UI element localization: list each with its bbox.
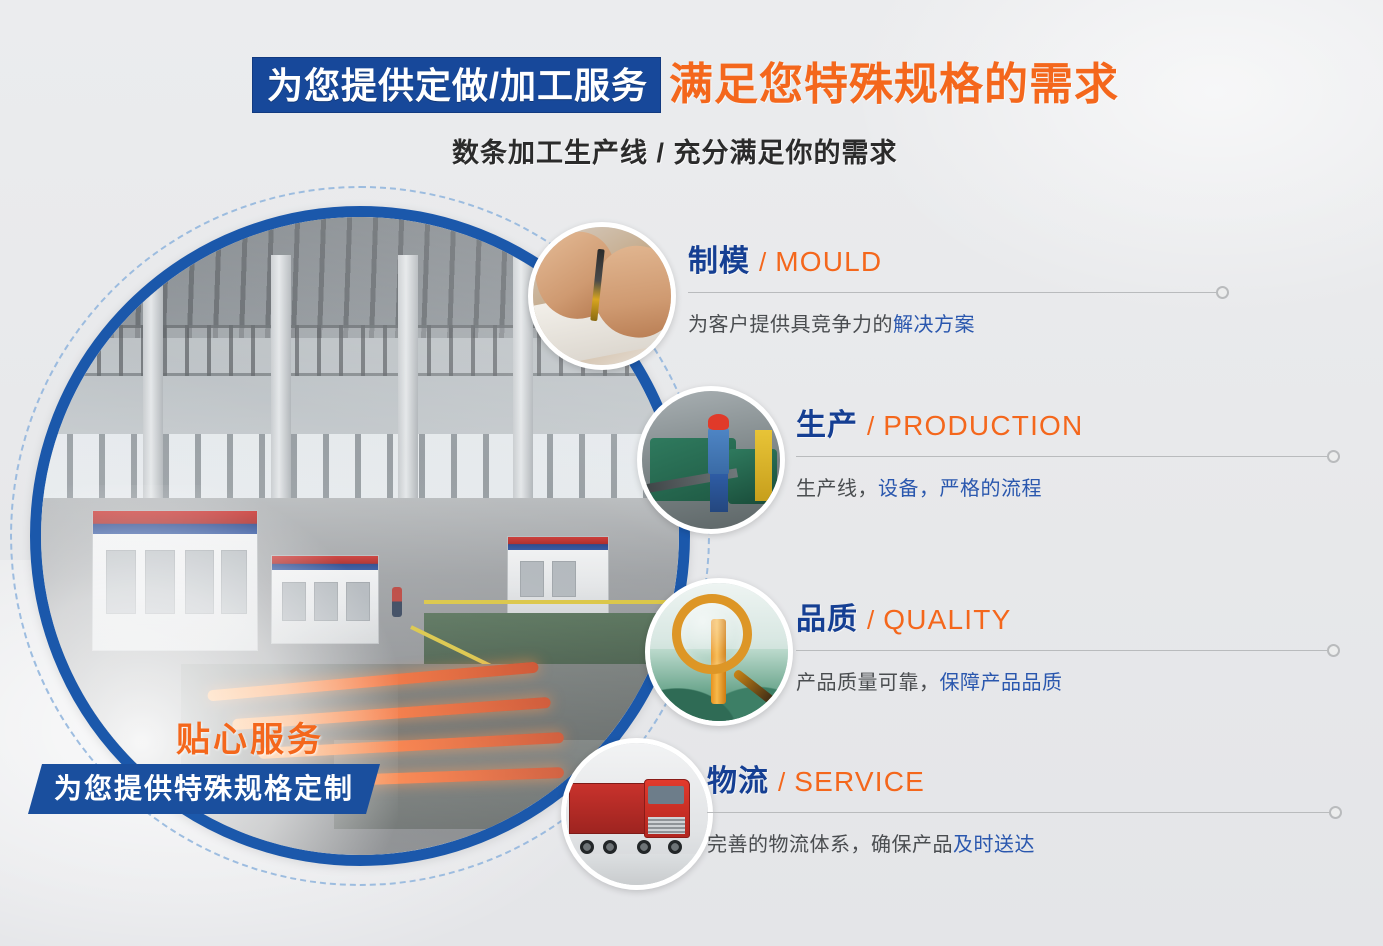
feature-list: 制模/MOULD 为客户提供具竞争力的解决方案: [0, 0, 1383, 946]
feature-title-separator: /: [759, 247, 766, 277]
feature-title-cn: 品质: [796, 603, 858, 636]
promo-banner: 为您提供定做/加工服务 满足您特殊规格的需求 数条加工生产线 / 充分满足你的需…: [0, 0, 1383, 946]
feature-description-service: 完善的物流体系，确保产品及时送达: [707, 828, 1342, 857]
feature-title-quality: 品质/QUALITY: [796, 594, 1341, 638]
feature-divider-rule: [796, 456, 1333, 457]
icon-truck-wheel: [668, 840, 682, 854]
feature-divider-rule: [688, 292, 1222, 293]
feature-title-mould: 制模/MOULD: [688, 236, 1228, 280]
feature-description-production: 生产线，设备，严格的流程: [796, 472, 1341, 501]
feature-desc-plain: 生产线，: [796, 478, 878, 500]
feature-title-en: SERVICE: [794, 766, 925, 797]
feature-title-en: MOULD: [775, 246, 882, 277]
feature-desc-plain: 为客户提供具竞争力的: [688, 314, 893, 336]
feature-text-production: 生产/PRODUCTION 生产线，设备，严格的流程: [796, 400, 1341, 501]
feature-description-mould: 为客户提供具竞争力的解决方案: [688, 308, 1228, 337]
feature-desc-plain: 产品质量可靠，: [796, 672, 940, 694]
feature-divider-rule: [796, 650, 1333, 651]
icon-truck-wheel: [603, 840, 617, 854]
icon-truck-trailer: [569, 783, 646, 834]
feature-title-cn: 生产: [796, 409, 858, 442]
feature-text-mould: 制模/MOULD 为客户提供具竞争力的解决方案: [688, 236, 1228, 337]
feature-title-production: 生产/PRODUCTION: [796, 400, 1341, 444]
icon-truck-windshield: [648, 786, 684, 804]
feature-description-quality: 产品质量可靠，保障产品品质: [796, 666, 1341, 695]
feature-title-separator: /: [867, 411, 874, 441]
feature-text-service: 物流/SERVICE 完善的物流体系，确保产品及时送达: [707, 756, 1342, 857]
feature-title-service: 物流/SERVICE: [707, 756, 1342, 800]
feature-title-en: PRODUCTION: [883, 410, 1083, 441]
production-worker-icon: [637, 386, 785, 534]
feature-title-separator: /: [778, 767, 785, 797]
icon-truck-grill: [648, 817, 685, 834]
icon-red-helmet: [708, 414, 729, 429]
feature-desc-highlight: 及时送达: [953, 834, 1035, 856]
feature-title-cn: 物流: [707, 765, 769, 798]
quality-magnifier-icon: [645, 578, 793, 726]
logistics-truck-icon: [561, 738, 713, 890]
icon-worker-legs: [710, 471, 728, 512]
feature-desc-highlight: 解决方案: [893, 314, 975, 336]
mould-hand-drawing-icon: [528, 222, 676, 370]
icon-truck-wheel: [637, 840, 651, 854]
icon-magnifier-lens: [672, 594, 752, 674]
feature-divider-rule: [707, 812, 1335, 813]
icon-yellow-panel: [755, 430, 772, 502]
feature-title-en: QUALITY: [883, 604, 1011, 635]
feature-title-separator: /: [867, 605, 874, 635]
feature-desc-highlight: 设备，严格的流程: [878, 478, 1042, 500]
icon-truck-wheel: [580, 840, 594, 854]
feature-desc-plain: 完善的物流体系，确保产品: [707, 834, 953, 856]
icon-ground: [566, 854, 708, 885]
icon-worker-body: [708, 427, 729, 474]
feature-title-cn: 制模: [688, 245, 750, 278]
feature-desc-highlight: 保障产品品质: [940, 672, 1063, 694]
feature-text-quality: 品质/QUALITY 产品质量可靠，保障产品品质: [796, 594, 1341, 695]
